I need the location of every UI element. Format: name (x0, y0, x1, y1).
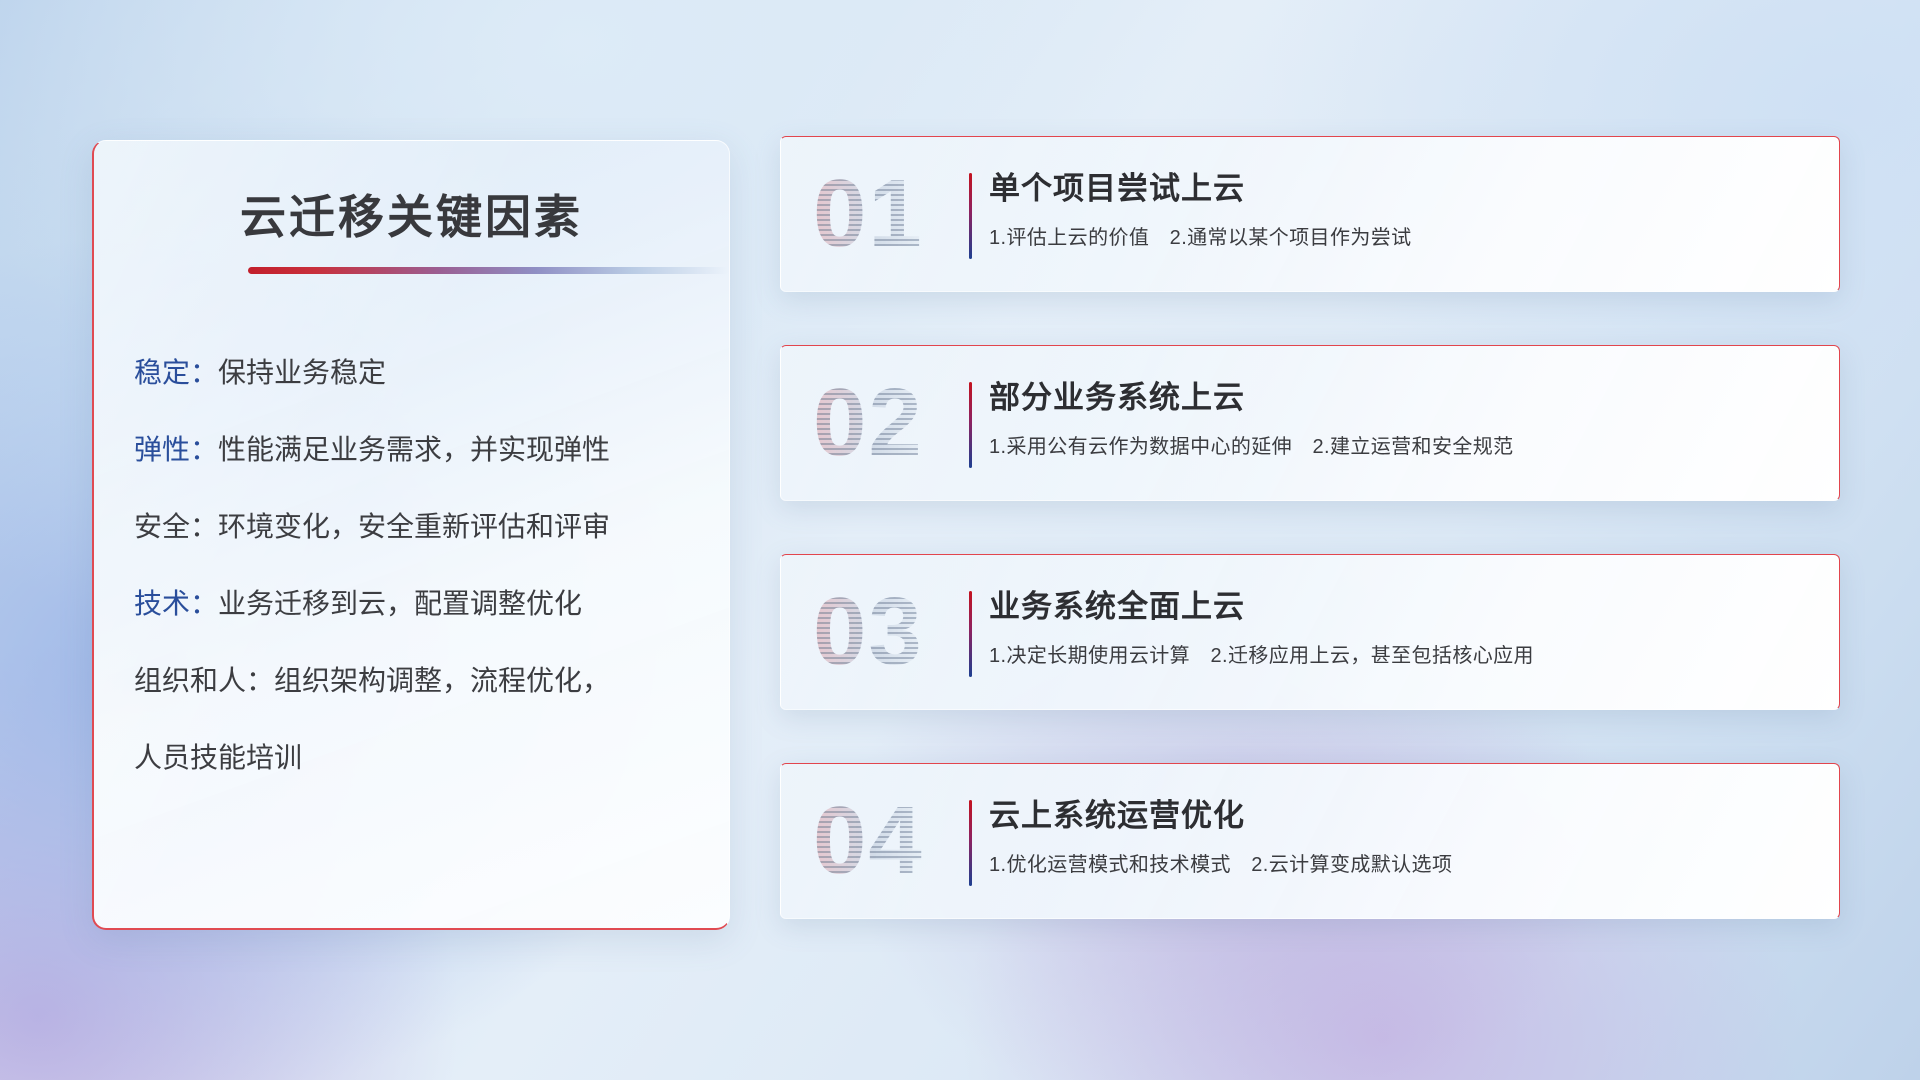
card-description: 1.优化运营模式和技术模式 2.云计算变成默认选项 (989, 848, 1817, 877)
key-factor-text: 人员技能培训 (134, 742, 302, 773)
stage-number: 03 (813, 577, 924, 687)
card-title: 部分业务系统上云 (989, 380, 1817, 416)
card-body: 单个项目尝试上云 1.评估上云的价值 2.通常以某个项目作为尝试 (989, 171, 1817, 250)
stage-number: 02 (813, 368, 924, 478)
key-factor-text: 业务迁移到云，配置调整优化 (218, 588, 582, 619)
panel-title: 云迁移关键因素 (94, 181, 729, 247)
stage-card[interactable]: 03 业务系统全面上云 1.决定长期使用云计算 2.迁移应用上云，甚至包括核心应… (780, 554, 1840, 710)
card-description: 1.采用公有云作为数据中心的延伸 2.建立运营和安全规范 (989, 430, 1817, 459)
stage-number: 04 (813, 786, 924, 896)
key-factor-item-continuation: 人员技能培训 (134, 744, 703, 772)
key-factor-text: 组织架构调整，流程优化， (274, 665, 610, 696)
stage-card[interactable]: 01 单个项目尝试上云 1.评估上云的价值 2.通常以某个项目作为尝试 (780, 136, 1840, 292)
key-factors-panel: 云迁移关键因素 稳定：保持业务稳定 弹性：性能满足业务需求，并实现弹性 安全：环… (92, 140, 730, 930)
card-body: 云上系统运营优化 1.优化运营模式和技术模式 2.云计算变成默认选项 (989, 798, 1817, 877)
slide-stage: 云迁移关键因素 稳定：保持业务稳定 弹性：性能满足业务需求，并实现弹性 安全：环… (0, 0, 1920, 1080)
card-accent-bar (969, 800, 972, 886)
key-factor-label: 技术： (134, 588, 218, 619)
stage-card[interactable]: 02 部分业务系统上云 1.采用公有云作为数据中心的延伸 2.建立运营和安全规范 (780, 345, 1840, 501)
card-description: 1.决定长期使用云计算 2.迁移应用上云，甚至包括核心应用 (989, 639, 1817, 668)
key-factor-item: 组织和人：组织架构调整，流程优化， (134, 667, 703, 695)
key-factor-item: 稳定：保持业务稳定 (134, 359, 703, 387)
stage-card[interactable]: 04 云上系统运营优化 1.优化运营模式和技术模式 2.云计算变成默认选项 (780, 763, 1840, 919)
key-factor-item: 弹性：性能满足业务需求，并实现弹性 (134, 436, 703, 464)
title-underline-accent (248, 267, 728, 274)
key-factor-item: 技术：业务迁移到云，配置调整优化 (134, 590, 703, 618)
stage-cards-list: 01 单个项目尝试上云 1.评估上云的价值 2.通常以某个项目作为尝试 02 部… (780, 136, 1840, 919)
stage-number: 01 (813, 159, 924, 269)
card-title: 单个项目尝试上云 (989, 171, 1817, 207)
key-factor-label: 组织和人： (134, 665, 274, 696)
card-title: 业务系统全面上云 (989, 589, 1817, 625)
key-factor-label: 稳定： (134, 357, 218, 388)
key-factor-text: 性能满足业务需求，并实现弹性 (218, 434, 610, 465)
card-accent-bar (969, 173, 972, 259)
key-factor-text: 环境变化，安全重新评估和评审 (218, 511, 610, 542)
key-factor-text: 保持业务稳定 (218, 357, 386, 388)
key-factor-label: 安全： (134, 511, 218, 542)
key-factor-label: 弹性： (134, 434, 218, 465)
card-body: 部分业务系统上云 1.采用公有云作为数据中心的延伸 2.建立运营和安全规范 (989, 380, 1817, 459)
card-title: 云上系统运营优化 (989, 798, 1817, 834)
card-description: 1.评估上云的价值 2.通常以某个项目作为尝试 (989, 221, 1817, 250)
key-factor-item: 安全：环境变化，安全重新评估和评审 (134, 513, 703, 541)
key-factors-list: 稳定：保持业务稳定 弹性：性能满足业务需求，并实现弹性 安全：环境变化，安全重新… (134, 359, 703, 772)
card-accent-bar (969, 591, 972, 677)
card-accent-bar (969, 382, 972, 468)
card-body: 业务系统全面上云 1.决定长期使用云计算 2.迁移应用上云，甚至包括核心应用 (989, 589, 1817, 668)
